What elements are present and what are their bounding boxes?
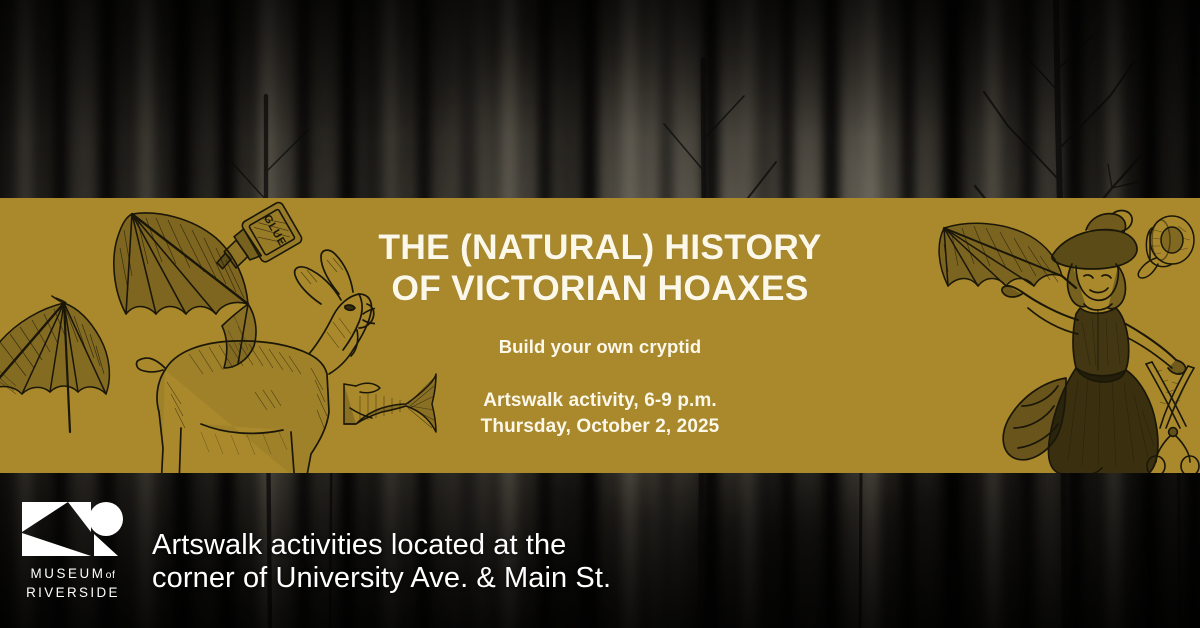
tape-roll-illustration (1132, 210, 1200, 280)
logo-word-riverside: RIVERSIDE (14, 584, 132, 601)
museum-logo-mark (20, 500, 124, 558)
logo-word-museum: MUSEUM (30, 566, 105, 581)
footer: MUSEUMof RIVERSIDE Artswalk activities l… (0, 473, 1200, 628)
location-caption: Artswalk activities located at the corne… (152, 529, 611, 595)
fish-tail-illustration (336, 362, 442, 442)
gold-content-band: GLUE (0, 198, 1200, 473)
band-illustrations: GLUE (0, 198, 1200, 473)
museum-logo[interactable]: MUSEUMof RIVERSIDE (14, 500, 132, 601)
caption-line-1: Artswalk activities located at the (152, 529, 566, 561)
goat-illustration (105, 242, 375, 473)
caption-line-2: corner of University Ave. & Main St. (152, 562, 611, 595)
logo-circle (89, 502, 123, 536)
scissors-illustration (1136, 360, 1200, 473)
event-banner: GLUE (0, 0, 1200, 628)
museum-logo-wordmark: MUSEUMof RIVERSIDE (14, 565, 132, 601)
logo-word-of: of (106, 569, 116, 581)
